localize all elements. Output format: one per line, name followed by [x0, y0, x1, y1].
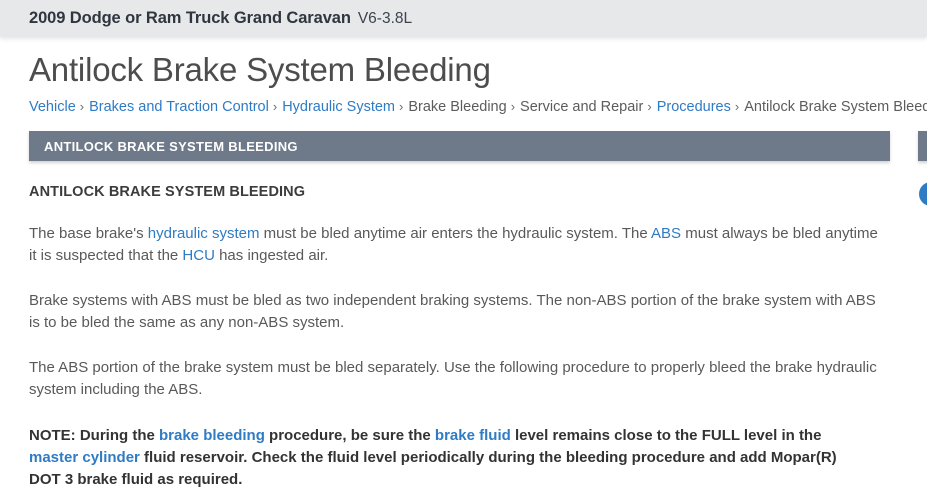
- note-text-2: procedure, be sure the: [265, 427, 435, 444]
- article-paragraph-1: The base brake's hydraulic system must b…: [29, 223, 882, 267]
- section-bar-primary: ANTILOCK BRAKE SYSTEM BLEEDING: [29, 131, 890, 161]
- vehicle-engine-label: V6-3.8L: [358, 10, 412, 28]
- article-note: NOTE: During the brake bleeding procedur…: [29, 425, 869, 491]
- note-text-1: NOTE: During the: [29, 427, 159, 444]
- link-master-cylinder[interactable]: master cylinder: [29, 449, 140, 466]
- breadcrumb-item-hydraulic-system[interactable]: Hydraulic System: [282, 99, 395, 115]
- breadcrumb: Vehicle›Brakes and Traction Control›Hydr…: [0, 90, 927, 117]
- paragraph-1-text-1: The base brake's: [29, 225, 148, 242]
- section-bar-primary-label: ANTILOCK BRAKE SYSTEM BLEEDING: [44, 139, 298, 154]
- article-paragraph-2: Brake systems with ABS must be bled as t…: [29, 290, 882, 334]
- paragraph-1-text-2: must be bled anytime air enters the hydr…: [259, 225, 651, 242]
- vehicle-model-label: 2009 Dodge or Ram Truck Grand Caravan: [29, 9, 351, 28]
- breadcrumb-separator-icon: ›: [80, 99, 84, 114]
- note-text-3: level remains close to the FULL level in…: [511, 427, 822, 444]
- vehicle-header: 2009 Dodge or Ram Truck Grand Caravan V6…: [0, 0, 927, 37]
- breadcrumb-separator-icon: ›: [399, 99, 403, 114]
- breadcrumb-item-procedures[interactable]: Procedures: [657, 99, 731, 115]
- section-bar-secondary: [918, 131, 927, 161]
- page-title: Antilock Brake System Bleeding: [0, 37, 927, 90]
- breadcrumb-separator-icon: ›: [273, 99, 277, 114]
- article-heading: ANTILOCK BRAKE SYSTEM BLEEDING: [29, 184, 927, 200]
- link-hydraulic-system[interactable]: hydraulic system: [148, 225, 260, 242]
- breadcrumb-item-vehicle[interactable]: Vehicle: [29, 99, 76, 115]
- breadcrumb-separator-icon: ›: [735, 99, 739, 114]
- breadcrumb-separator-icon: ›: [647, 99, 651, 114]
- breadcrumb-item-brakes-and-traction-control[interactable]: Brakes and Traction Control: [89, 99, 269, 115]
- link-brake-bleeding[interactable]: brake bleeding: [159, 427, 265, 444]
- article-body: ANTILOCK BRAKE SYSTEM BLEEDING The base …: [0, 184, 927, 490]
- breadcrumb-item-antilock-brake-system-bleeding: Antilock Brake System Bleeding: [744, 99, 927, 115]
- article-paragraph-3: The ABS portion of the brake system must…: [29, 357, 882, 401]
- link-hcu[interactable]: HCU: [182, 247, 215, 264]
- link-abs[interactable]: ABS: [651, 225, 681, 242]
- breadcrumb-separator-icon: ›: [511, 99, 515, 114]
- paragraph-1-text-4: has ingested air.: [215, 247, 328, 264]
- note-text-4: fluid reservoir. Check the fluid level p…: [29, 449, 837, 488]
- breadcrumb-item-brake-bleeding: Brake Bleeding: [408, 99, 506, 115]
- breadcrumb-item-service-and-repair: Service and Repair: [520, 99, 643, 115]
- section-bar-row: ANTILOCK BRAKE SYSTEM BLEEDING: [0, 131, 927, 161]
- link-brake-fluid[interactable]: brake fluid: [435, 427, 511, 444]
